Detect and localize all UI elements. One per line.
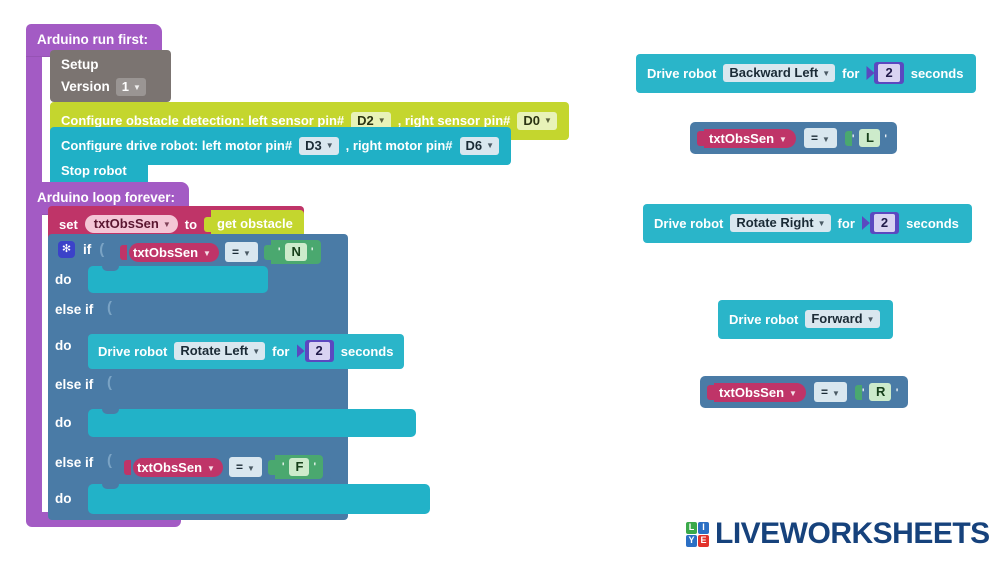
seconds-value: 2: [309, 342, 330, 360]
for-label: for: [272, 345, 289, 358]
set-label: set: [59, 218, 78, 231]
drive-robot-block-rotate-left[interactable]: Drive robot Rotate Left ▼ for 2 seconds: [88, 334, 404, 369]
condition-socket-notch-3: (: [107, 374, 112, 391]
compare-plug: [697, 131, 704, 146]
compare-operator-dropdown[interactable]: = ▼: [229, 457, 262, 477]
compare-right-text-value: N: [292, 245, 301, 258]
do-label-3: do: [55, 415, 72, 430]
loop-spine-left: [26, 213, 42, 520]
compare-operator-value: =: [811, 131, 818, 145]
number-block[interactable]: 2: [305, 340, 334, 362]
loose-drive-robot-forward[interactable]: Drive robot Forward ▼: [718, 300, 893, 339]
set-variable-name: txtObsSen: [94, 217, 159, 230]
logo-tile-e: E: [698, 535, 709, 547]
logo-tile-i: I: [698, 522, 709, 534]
do-label-4: do: [55, 491, 72, 506]
gear-icon[interactable]: ✻: [58, 241, 75, 258]
compare-right-text-field[interactable]: L: [859, 129, 880, 147]
drive-robot-label: Drive robot: [98, 345, 167, 358]
chevron-down-icon: ▼: [207, 464, 215, 473]
loose-compare-block-r[interactable]: txtObsSen ▼ = ▼ ' R ': [700, 376, 908, 408]
compare-operator-dropdown[interactable]: = ▼: [225, 242, 258, 262]
drive-direction-dropdown[interactable]: Rotate Left ▼: [174, 342, 265, 360]
open-quote-icon: ': [852, 133, 855, 145]
close-quote-icon: ': [311, 246, 314, 258]
condition-socket-notch-2: (: [107, 299, 112, 316]
drive-robot-label: Drive robot: [647, 67, 716, 80]
liveworksheets-logo: L I Y E LIVEWORKSHEETS: [686, 519, 990, 549]
text-plug: [264, 245, 271, 260]
compare-left-variable[interactable]: txtObsSen ▼: [704, 129, 796, 148]
elseif-label-2: else if: [55, 302, 93, 317]
chevron-down-icon: ▼: [779, 135, 787, 144]
compare-right-text-value: F: [296, 460, 304, 473]
loose-drive-robot-rotate-right[interactable]: Drive robot Rotate Right ▼ for 2 seconds: [643, 204, 972, 243]
chevron-down-icon: ▼: [163, 221, 171, 229]
chevron-down-icon: ▼: [789, 389, 797, 398]
setup-block[interactable]: Setup Version 1 ▼: [50, 50, 171, 102]
do-slot-1[interactable]: [88, 266, 268, 293]
drive-direction-value: Forward: [811, 312, 862, 325]
text-plug: [855, 385, 862, 400]
text-plug: [845, 131, 852, 146]
seconds-label: seconds: [906, 217, 959, 230]
set-variable-dropdown[interactable]: txtObsSen ▼: [85, 215, 178, 233]
elseif-4-condition-compare-block[interactable]: txtObsSen ▼ = ▼ ' F ': [124, 452, 331, 482]
right-sensor-pin-dropdown[interactable]: D0 ▼: [517, 112, 557, 130]
compare-left-variable-label: txtObsSen: [133, 246, 198, 259]
seconds-number-socket[interactable]: 2: [866, 62, 903, 84]
to-label: to: [185, 218, 197, 231]
chevron-down-icon: ▼: [822, 70, 830, 78]
chevron-down-icon: ▼: [544, 117, 552, 125]
seconds-value: 2: [878, 64, 899, 82]
right-motor-pin-dropdown[interactable]: D6 ▼: [460, 137, 500, 155]
seconds-label: seconds: [911, 67, 964, 80]
drive-config-middle-label: , right motor pin#: [346, 139, 453, 152]
stop-robot-label: Stop robot: [61, 164, 127, 177]
seconds-number-socket[interactable]: 2: [862, 212, 899, 234]
compare-left-variable[interactable]: txtObsSen ▼: [129, 243, 219, 262]
compare-plug: [120, 245, 127, 260]
compare-left-variable-label: txtObsSen: [709, 132, 774, 145]
number-plug-icon: [297, 344, 305, 358]
compare-right-text-block[interactable]: ' R ': [862, 383, 899, 401]
compare-body: txtObsSen ▼ = ▼ ' N ': [127, 237, 329, 267]
right-motor-pin-value: D6: [466, 139, 483, 152]
value-plug: [204, 217, 211, 232]
close-quote-icon: ': [884, 133, 887, 145]
drive-direction-value: Rotate Left: [180, 344, 248, 357]
chevron-down-icon: ▼: [243, 249, 251, 258]
chevron-down-icon: ▼: [378, 117, 386, 125]
chevron-down-icon: ▼: [247, 464, 255, 473]
for-label: for: [838, 217, 855, 230]
compare-body: txtObsSen ▼ = ▼ ' F ': [131, 452, 331, 482]
compare-operator-value: =: [232, 245, 239, 259]
logo-wordmark: LIVEWORKSHEETS: [715, 519, 990, 549]
compare-plug: [124, 460, 131, 475]
compare-right-text-field[interactable]: R: [869, 383, 891, 401]
condition-socket-notch-4: (: [107, 452, 112, 469]
number-plug-icon: [866, 66, 874, 80]
elseif-label-3: else if: [55, 377, 93, 392]
logo-tile-y: Y: [686, 535, 697, 547]
do-slot-3[interactable]: [88, 409, 416, 437]
compare-right-text-value: R: [876, 385, 885, 398]
compare-operator-value: =: [236, 460, 243, 474]
drive-direction-value: Backward Left: [729, 66, 818, 79]
compare-right-text-block[interactable]: ' L ': [852, 129, 887, 147]
number-plug-icon: [862, 216, 870, 230]
compare-left-variable-label: txtObsSen: [719, 386, 784, 399]
compare-left-variable[interactable]: txtObsSen ▼: [133, 458, 223, 477]
drive-robot-label: Drive robot: [654, 217, 723, 230]
if-condition-compare-block[interactable]: txtObsSen ▼ = ▼ ' N ': [120, 237, 329, 267]
compare-plug: [707, 385, 714, 400]
arduino-loop-forever-title: Arduino loop forever:: [37, 190, 175, 205]
chevron-down-icon: ▼: [252, 348, 260, 356]
compare-right-text-field[interactable]: F: [289, 458, 310, 476]
chevron-down-icon: ▼: [326, 142, 334, 150]
do-label-1: do: [55, 272, 72, 287]
right-sensor-pin-value: D0: [523, 114, 540, 127]
do-slot-4[interactable]: [88, 484, 430, 514]
version-dropdown[interactable]: 1 ▼: [116, 78, 146, 96]
chevron-down-icon: ▼: [486, 142, 494, 150]
logo-tile-l: L: [686, 522, 697, 534]
drive-direction-dropdown[interactable]: Forward ▼: [805, 310, 879, 328]
arduino-run-first-title: Arduino run first:: [37, 32, 148, 47]
drive-direction-value: Rotate Right: [736, 216, 813, 229]
compare-right-text-field[interactable]: N: [285, 243, 307, 261]
chevron-down-icon: ▼: [203, 249, 211, 258]
text-plug: [268, 460, 275, 475]
for-label: for: [842, 67, 859, 80]
loose-compare-block-l[interactable]: txtObsSen ▼ = ▼ ' L ': [690, 122, 897, 154]
blockly-workspace[interactable]: Arduino run first: Setup Version 1 ▼ Con…: [0, 0, 1000, 563]
condition-socket-notch: (: [99, 241, 104, 258]
elseif-label-4: else if: [55, 455, 93, 470]
drive-direction-dropdown[interactable]: Rotate Right ▼: [730, 214, 830, 232]
chevron-down-icon: ▼: [133, 84, 141, 92]
compare-right-text-value: L: [866, 131, 874, 144]
seconds-label: seconds: [341, 345, 394, 358]
setup-label: Setup: [61, 57, 99, 72]
drive-config-prefix-label: Configure drive robot: left motor pin#: [61, 139, 292, 152]
compare-operator-dropdown[interactable]: = ▼: [814, 382, 847, 402]
obstacle-middle-label: , right sensor pin#: [398, 114, 511, 127]
left-sensor-pin-value: D2: [357, 114, 374, 127]
chevron-down-icon: ▼: [818, 220, 826, 228]
drive-direction-dropdown[interactable]: Backward Left ▼: [723, 64, 835, 82]
compare-right-text-block[interactable]: ' F ': [275, 455, 323, 479]
seconds-number-socket[interactable]: 2: [297, 340, 334, 362]
version-value: 1: [122, 80, 129, 93]
open-quote-icon: ': [278, 246, 281, 258]
if-label: if: [83, 242, 91, 257]
compare-operator-value: =: [821, 385, 828, 399]
logo-mark-icon: L I Y E: [686, 522, 709, 547]
version-label: Version: [61, 80, 110, 94]
obstacle-prefix-label: Configure obstacle detection: left senso…: [61, 114, 344, 127]
do-label-2: do: [55, 338, 72, 353]
drive-robot-label: Drive robot: [729, 313, 798, 326]
compare-left-variable-label: txtObsSen: [137, 461, 202, 474]
chevron-down-icon: ▼: [822, 135, 830, 144]
loose-drive-robot-backward-left[interactable]: Drive robot Backward Left ▼ for 2 second…: [636, 54, 976, 93]
number-block[interactable]: 2: [870, 212, 899, 234]
left-motor-pin-value: D3: [305, 139, 322, 152]
seconds-value: 2: [874, 214, 895, 232]
number-block[interactable]: 2: [874, 62, 903, 84]
if-row: ✻ if (: [48, 234, 104, 264]
left-motor-pin-dropdown[interactable]: D3 ▼: [299, 137, 339, 155]
close-quote-icon: ': [313, 461, 316, 473]
close-quote-icon: ': [896, 387, 899, 399]
chevron-down-icon: ▼: [867, 316, 875, 324]
compare-left-variable[interactable]: txtObsSen ▼: [714, 383, 806, 402]
open-quote-icon: ': [862, 387, 865, 399]
compare-operator-dropdown[interactable]: = ▼: [804, 128, 837, 148]
get-obstacle-label: get obstacle: [217, 216, 293, 231]
compare-right-text-block[interactable]: ' N ': [271, 240, 321, 264]
chevron-down-icon: ▼: [832, 389, 840, 398]
open-quote-icon: ': [282, 461, 285, 473]
